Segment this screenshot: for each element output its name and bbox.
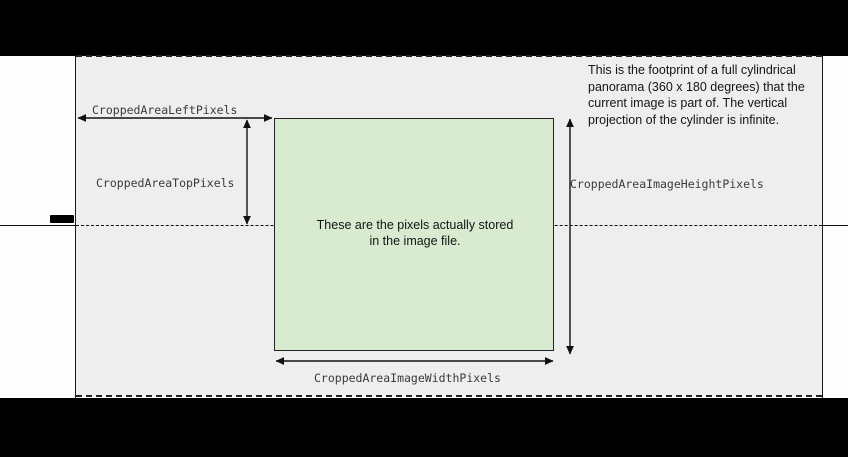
horizon-line-right-segment xyxy=(822,225,848,226)
stored-pixels-caption: These are the pixels actually stored in … xyxy=(275,217,555,249)
footprint-left-boundary-line xyxy=(75,56,76,398)
label-cropped-area-image-height-pixels: CroppedAreaImageHeightPixels xyxy=(570,177,764,191)
footprint-top-boundary-dashed-line xyxy=(76,55,822,57)
label-cropped-area-top-pixels: CroppedAreaTopPixels xyxy=(96,176,234,190)
footprint-bottom-boundary-dashed-line xyxy=(76,395,822,397)
diagram-canvas: These are the pixels actually stored in … xyxy=(0,0,848,457)
label-cropped-area-left-pixels: CroppedAreaLeftPixels xyxy=(92,103,237,117)
horizon-marker-icon xyxy=(50,215,74,223)
footprint-description-text: This is the footprint of a full cylindri… xyxy=(588,62,828,128)
label-cropped-area-image-width-pixels: CroppedAreaImageWidthPixels xyxy=(314,371,501,385)
stored-pixels-rectangle: These are the pixels actually stored in … xyxy=(274,118,554,351)
horizon-line-left-segment xyxy=(0,225,76,226)
